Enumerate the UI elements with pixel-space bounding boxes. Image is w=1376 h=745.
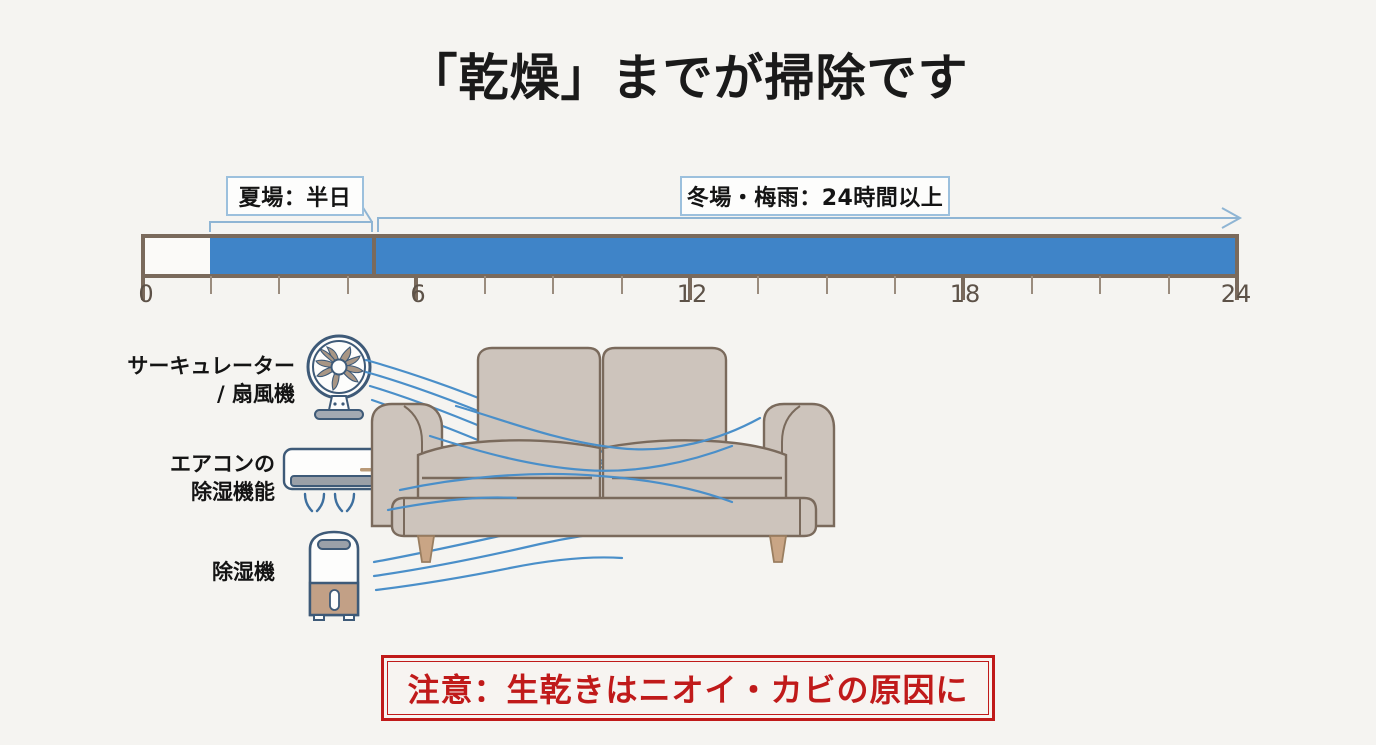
timeline-label-summer: 夏場：半日	[226, 176, 364, 216]
timeline-bar-fill	[210, 238, 1235, 274]
sofa-illustration	[372, 348, 834, 562]
device-label-line2: / 扇風機	[40, 380, 295, 408]
axis-tick-label-24: 24	[1221, 280, 1252, 308]
scene-graphic	[360, 330, 980, 640]
drying-time-timeline: 夏場：半日 冬場・梅雨：24時間以上 0 6 12 18 24	[0, 170, 1376, 315]
timeline-label-winter: 冬場・梅雨：24時間以上	[680, 176, 950, 216]
axis-tick-label-12: 12	[677, 280, 708, 308]
sofa-leg-left	[418, 536, 434, 562]
page-title: 「乾燥」までが掃除です	[0, 48, 1376, 108]
device-label-line1: 除湿機	[60, 558, 275, 586]
infographic-canvas: 「乾燥」までが掃除です	[0, 0, 1376, 745]
axis-tick-label-18: 18	[950, 280, 981, 308]
device-label-line1: エアコンの	[60, 450, 275, 478]
sofa-leg-right	[770, 536, 786, 562]
warning-banner: 注意：生乾きはニオイ・カビの原因に	[381, 655, 995, 721]
warning-text: 注意：生乾きはニオイ・カビの原因に	[407, 665, 968, 711]
warning-banner-inner: 注意：生乾きはニオイ・カビの原因に	[387, 661, 989, 715]
airflow-and-sofa-scene	[360, 330, 980, 640]
axis-tick-label-0: 0	[138, 280, 153, 308]
device-label-air-conditioner: エアコンの 除湿機能	[60, 450, 275, 507]
axis-tick-label-6: 6	[410, 280, 425, 308]
device-label-line1: サーキュレーター	[40, 352, 295, 380]
device-label-dehumidifier: 除湿機	[60, 558, 275, 586]
device-label-line2: 除湿機能	[60, 478, 275, 506]
device-label-circulator-fan: サーキュレーター / 扇風機	[40, 352, 295, 409]
